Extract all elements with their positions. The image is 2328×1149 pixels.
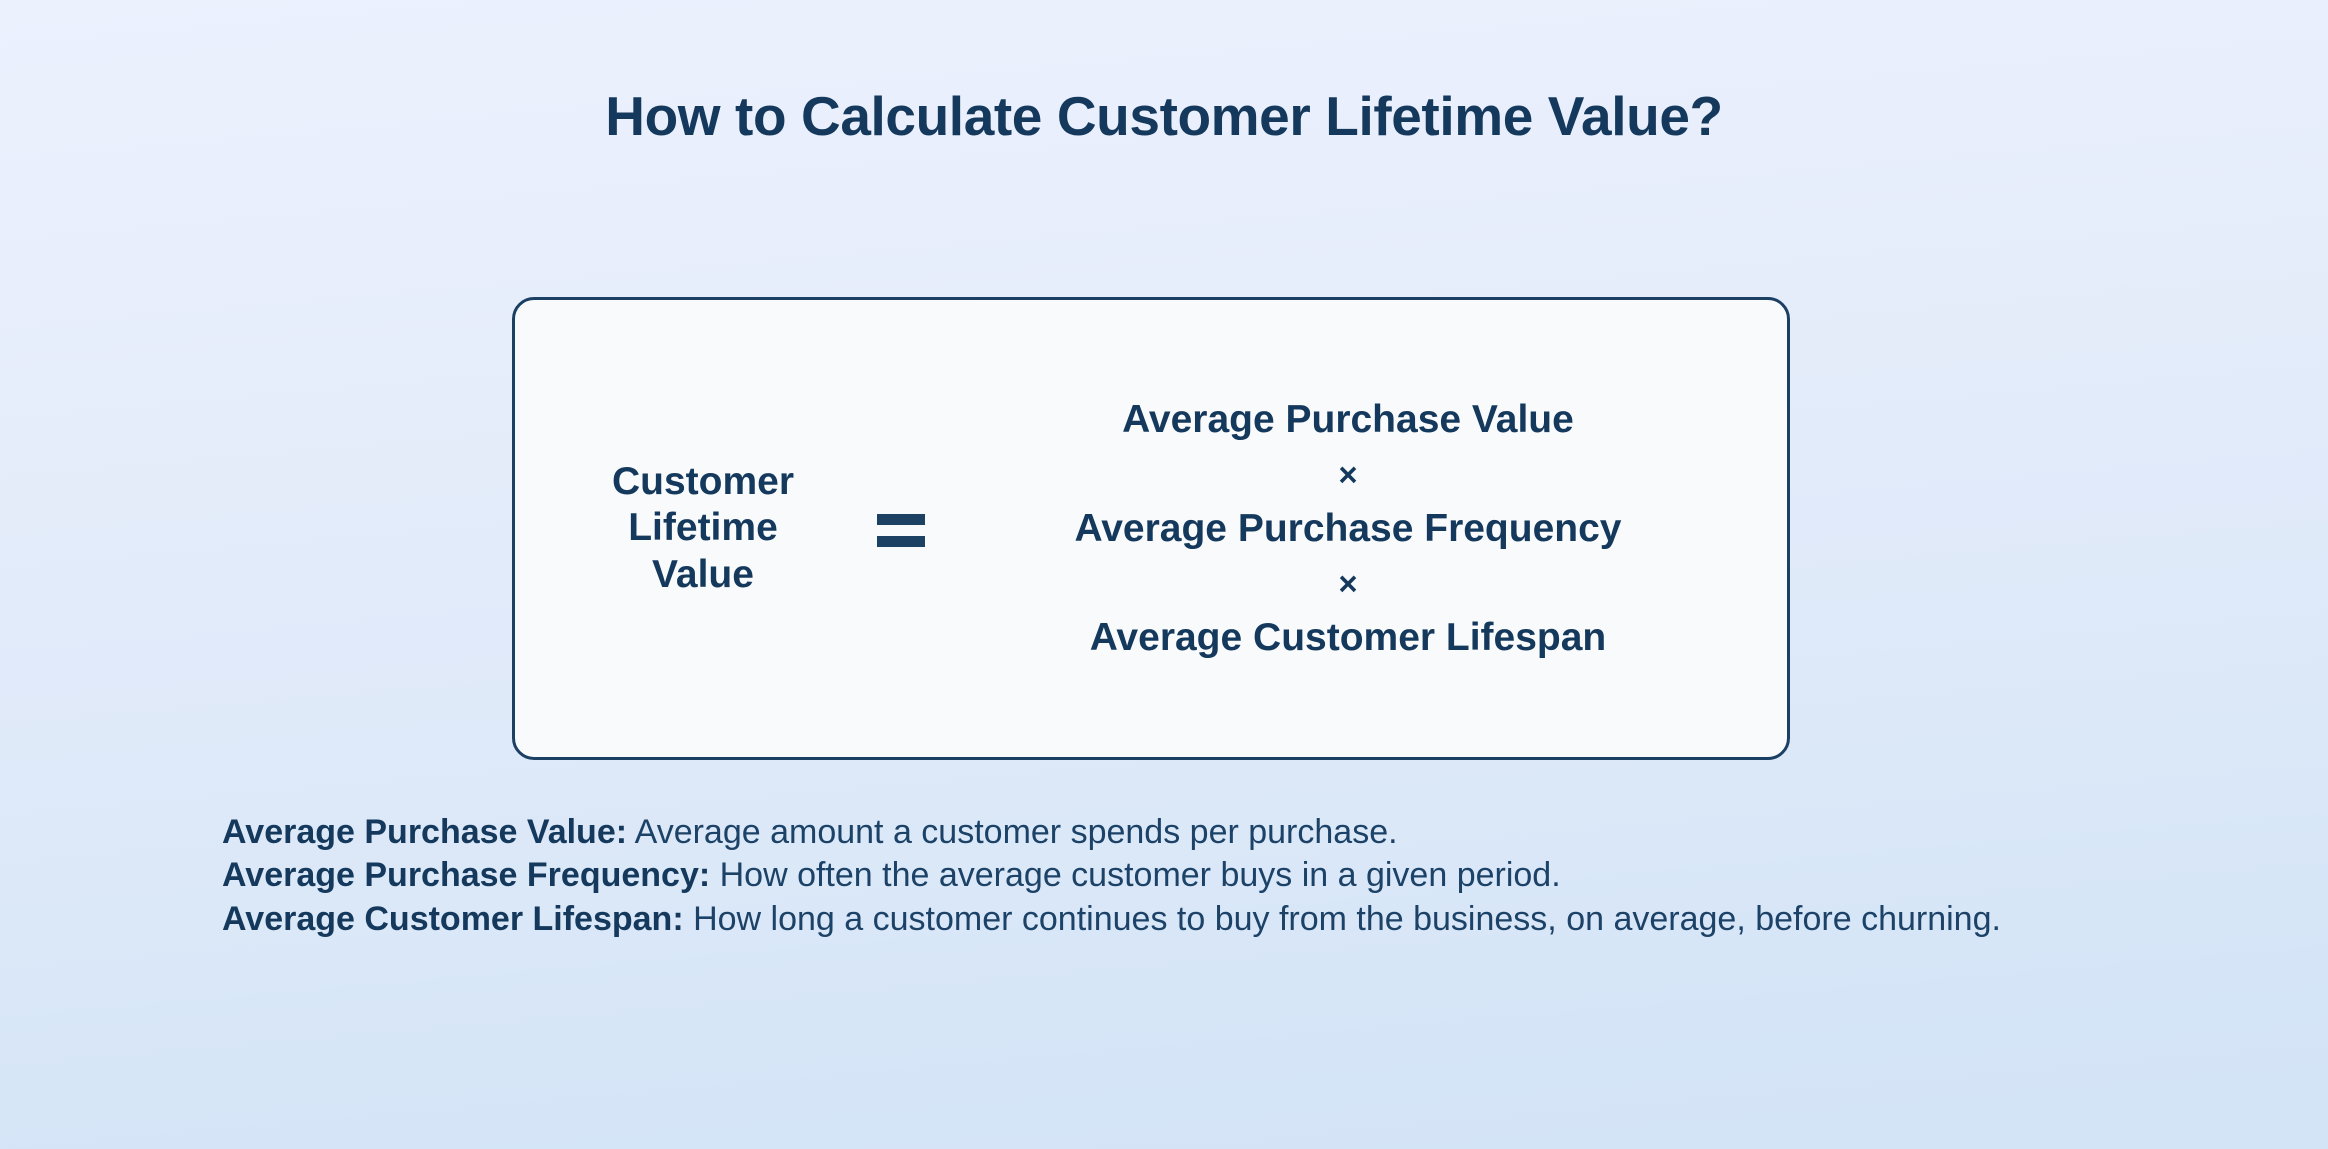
left-term-line-2: Lifetime bbox=[553, 505, 853, 551]
formula-left-term: Customer Lifetime Value bbox=[553, 459, 853, 597]
definition-item-purchase-value: Average Purchase Value: Average amount a… bbox=[222, 812, 2172, 853]
multiply-icon-1: × bbox=[949, 450, 1747, 500]
equals-bar-top bbox=[877, 514, 925, 525]
definition-label: Average Customer Lifespan: bbox=[222, 900, 684, 938]
definition-text: How often the average customer buys in a… bbox=[710, 856, 1560, 894]
definition-label: Average Purchase Value: bbox=[222, 813, 627, 851]
left-term-line-3: Value bbox=[553, 552, 853, 598]
definition-label: Average Purchase Frequency: bbox=[222, 856, 710, 894]
definition-text: Average amount a customer spends per pur… bbox=[627, 813, 1398, 851]
formula-card: Customer Lifetime Value Average Purchase… bbox=[512, 297, 1790, 760]
page-title: How to Calculate Customer Lifetime Value… bbox=[0, 86, 2328, 147]
formula-layout: Customer Lifetime Value Average Purchase… bbox=[515, 397, 1787, 660]
factor-average-purchase-value: Average Purchase Value bbox=[949, 397, 1747, 442]
definition-item-customer-lifespan: Average Customer Lifespan: How long a cu… bbox=[222, 899, 2172, 940]
left-term-line-1: Customer bbox=[553, 459, 853, 505]
definition-text: How long a customer continues to buy fro… bbox=[684, 900, 2001, 938]
factor-average-customer-lifespan: Average Customer Lifespan bbox=[949, 615, 1747, 660]
formula-right-side: Average Purchase Value × Average Purchas… bbox=[949, 397, 1787, 660]
equals-icon bbox=[853, 514, 949, 547]
multiply-icon-2: × bbox=[949, 559, 1747, 609]
factor-average-purchase-frequency: Average Purchase Frequency bbox=[949, 506, 1747, 551]
equals-bar-bottom bbox=[877, 536, 925, 547]
definitions-list: Average Purchase Value: Average amount a… bbox=[222, 812, 2172, 942]
definition-item-purchase-frequency: Average Purchase Frequency: How often th… bbox=[222, 855, 2172, 896]
